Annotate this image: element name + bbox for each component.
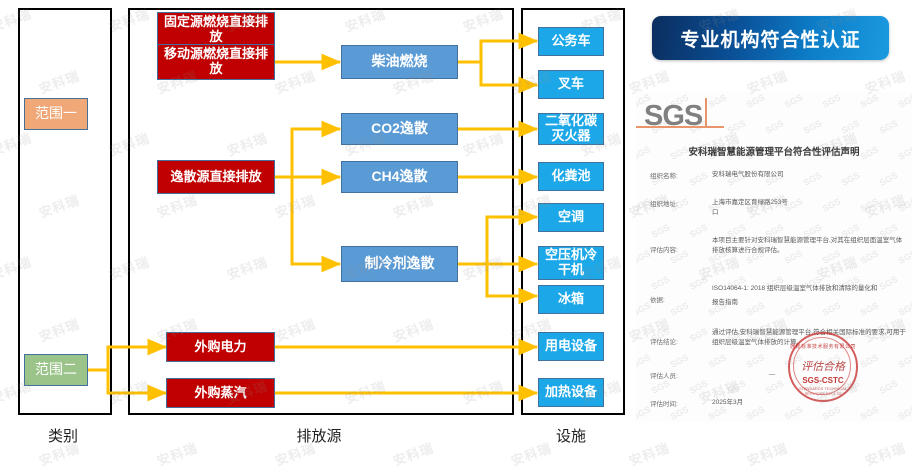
source-node-purchased-steam[interactable]: 外购蒸汽 (166, 378, 275, 408)
sgs-logo-bar-vertical (705, 98, 707, 128)
sgs-watermark-text: SGS (636, 352, 652, 370)
doc-field-label: 评估人员: (650, 370, 702, 380)
sgs-watermark-text: SGS (707, 352, 728, 370)
stamp-bottom-text: STANDARDS TECHNICAL SERVICES CO.,LTD (790, 386, 856, 396)
sgs-watermark-text: SGS (859, 352, 880, 370)
column-label-category: 类别 (18, 425, 108, 446)
sgs-watermark-text: SGS (745, 352, 766, 370)
sgs-watermark-text: SGS (688, 274, 709, 292)
doc-field-label: 评估结论: (650, 336, 702, 346)
doc-field-label: 依据: (650, 294, 702, 304)
scope-node-scope2[interactable]: 范围二 (24, 354, 88, 386)
sgs-watermark-text: SGS (783, 92, 804, 110)
sgs-watermark-text: SGS (878, 378, 899, 396)
source-node-co2-fugitive[interactable]: CO2逸散 (341, 113, 458, 145)
scope-node-scope1[interactable]: 范围一 (24, 98, 88, 130)
doc-field-value: ISO14064-1: 2018 组织层级温室气体排放和清除的量化和 报告指南 (712, 282, 908, 309)
source-node-stationary-combustion[interactable]: 固定源燃烧直接排放 (157, 12, 275, 48)
sgs-watermark-text: SGS (688, 222, 709, 240)
sgs-watermark-text: SGS (726, 118, 747, 136)
facility-node-forklift[interactable]: 叉车 (538, 70, 604, 99)
facility-node-heating-equipment[interactable]: 加热设备 (538, 378, 604, 407)
facility-node-air-compressor-dryer[interactable]: 空压机冷干机 (538, 246, 604, 280)
column-label-source: 排放源 (128, 425, 510, 446)
source-node-refrigerant-fugitive[interactable]: 制冷剂逸散 (341, 246, 458, 282)
doc-field-label: 评估内容: (650, 244, 702, 254)
sgs-watermark-text: SGS (650, 378, 671, 396)
sgs-watermark-text: SGS (745, 92, 766, 110)
source-node-ch4-fugitive[interactable]: CH4逸散 (341, 161, 458, 193)
certification-panel: 专业机构符合性认证 SGSSGSSGSSGSSGSSGSSGSSGSSGSSGS… (630, 0, 912, 455)
sgs-logo-text: SGS (644, 100, 702, 133)
doc-field-value: 上海市嘉定区育绿路253号 口 (712, 198, 908, 218)
sgs-watermark-text: SGS (726, 378, 747, 396)
facility-node-co2-extinguisher[interactable]: 二氧化碳灭火器 (538, 113, 604, 145)
sgs-watermark-text: SGS (821, 92, 842, 110)
facility-node-electrical-equipment[interactable]: 用电设备 (538, 332, 604, 361)
column-label-facility: 设施 (521, 425, 621, 446)
sgs-watermark-text: SGS (764, 118, 785, 136)
facility-node-refrigerator[interactable]: 冰箱 (538, 285, 604, 314)
doc-field-label: 评估时间: (650, 398, 702, 408)
sgs-watermark-text: SGS (859, 92, 880, 110)
sgs-watermark-text: SGS (669, 352, 690, 370)
doc-field-label: 组织名称: (650, 170, 702, 180)
certification-badge: 专业机构符合性认证 (652, 16, 889, 60)
sgs-logo: SGS (642, 100, 712, 134)
document-title: 安科瑞智慧能源管理平台符合性评估声明 (636, 144, 912, 158)
sgs-watermark-text: SGS (802, 118, 823, 136)
facility-node-company-car[interactable]: 公务车 (538, 27, 604, 56)
sgs-watermark-text: SGS (688, 378, 709, 396)
source-node-mobile-combustion[interactable]: 移动源燃烧直接排放 (157, 44, 275, 80)
facility-node-septic-tank[interactable]: 化粪池 (538, 162, 604, 191)
doc-field-value: 本项目主要针对安科瑞智慧能源管理平台,对其在组织层面温室气体排放核算进行合规评估… (712, 236, 908, 256)
sgs-watermark-text: SGS (840, 118, 861, 136)
source-node-fugitive-emission[interactable]: 逸散源直接排放 (157, 160, 275, 194)
stamp-top-text: 通标标准技术服务有限公司 (790, 343, 856, 350)
stamp-code: SGS-CSTC (790, 376, 856, 385)
sgs-watermark-text: SGS (897, 352, 912, 370)
certification-document: SGSSGSSGSSGSSGSSGSSGSSGSSGSSGSSGSSGSSGSS… (636, 92, 912, 422)
source-node-purchased-electricity[interactable]: 外购电力 (166, 332, 275, 362)
doc-field-label: 组织地址: (650, 198, 702, 208)
sgs-watermark-text: SGS (897, 92, 912, 110)
sgs-watermark-text: SGS (764, 378, 785, 396)
official-seal-stamp: 通标标准技术服务有限公司 评估合格 SGS-CSTC STANDARDS TEC… (788, 332, 858, 402)
sgs-watermark-text: SGS (650, 222, 671, 240)
sgs-logo-bar-horizontal (636, 126, 724, 128)
sgs-watermark-text: SGS (878, 118, 899, 136)
doc-field-value: 安科瑞电气股份有限公司 (712, 170, 908, 180)
source-node-diesel-combustion[interactable]: 柴油燃烧 (341, 45, 458, 79)
facility-node-air-conditioner[interactable]: 空调 (538, 203, 604, 232)
sgs-watermark-text: SGS (650, 274, 671, 292)
stamp-signature: 评估合格 (796, 358, 850, 374)
